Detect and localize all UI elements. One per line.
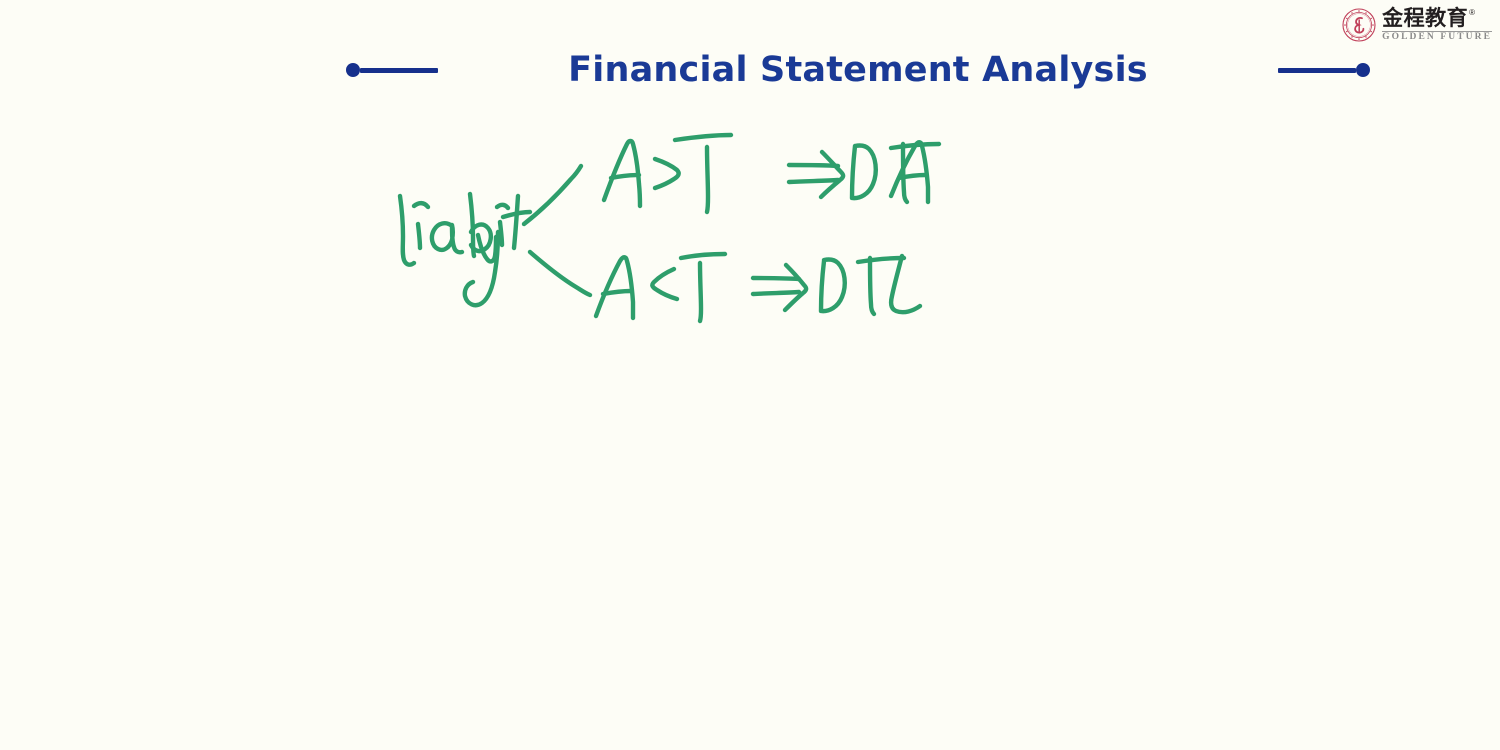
title-rule-right <box>1278 57 1370 83</box>
handwriting-annotation-layer <box>0 0 1500 750</box>
ink-branch-top <box>604 135 939 212</box>
ink-word-liability <box>400 194 530 305</box>
title-band: Financial Statement Analysis <box>0 44 1500 96</box>
ink-brace <box>524 166 590 295</box>
rule-bar-right-icon <box>1278 68 1356 73</box>
ink-branch-bottom <box>596 254 920 321</box>
slide-canvas: 金程教育 ® GOLDEN FUTURE Financial Statement… <box>0 0 1500 750</box>
page-title: Financial Statement Analysis <box>568 50 1148 90</box>
registered-trademark-icon: ® <box>1469 9 1475 17</box>
brand-logo: 金程教育 ® GOLDEN FUTURE <box>1342 6 1492 44</box>
rule-dot-right-icon <box>1356 63 1370 77</box>
title-rule-left <box>346 57 438 83</box>
rule-bar-left-icon <box>360 68 438 73</box>
rule-dot-left-icon <box>346 63 360 77</box>
brand-chinese-name: 金程教育 <box>1382 8 1468 29</box>
brand-wordmark: 金程教育 ® GOLDEN FUTURE <box>1382 8 1492 43</box>
brand-english-name: GOLDEN FUTURE <box>1382 33 1492 43</box>
golden-future-seal-icon <box>1342 8 1376 42</box>
